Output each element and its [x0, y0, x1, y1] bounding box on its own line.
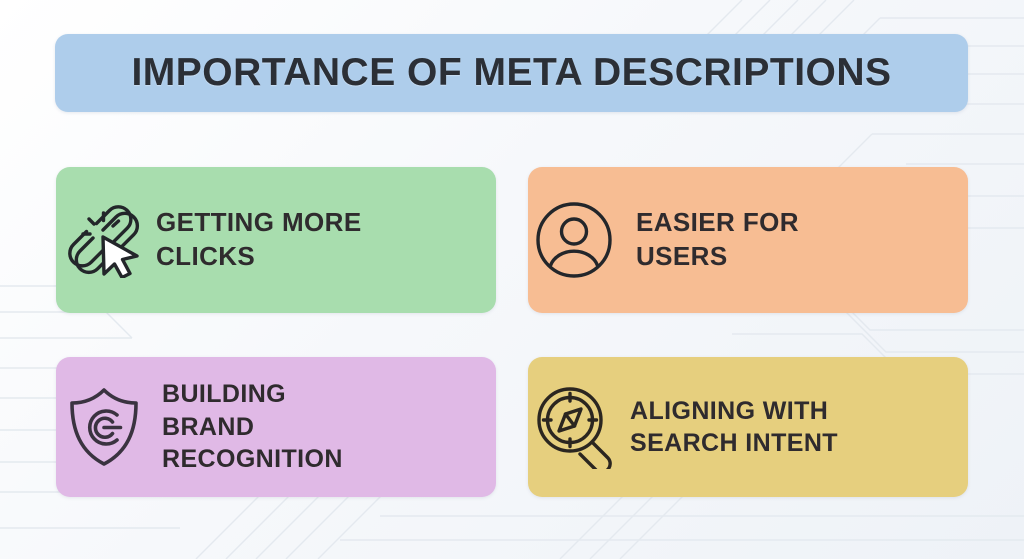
card-easier-for-users[interactable]: EASIER FOR USERS [528, 167, 968, 313]
compass-magnifier-icon [528, 385, 624, 469]
infographic-canvas: IMPORTANCE OF META DESCRIPTIONS GETTING … [0, 0, 1024, 559]
card-label-getting-more-clicks: GETTING MORE CLICKS [148, 206, 362, 273]
card-aligning-with-search-intent[interactable]: ALIGNING WITH SEARCH INTENT [528, 357, 968, 497]
user-circle-icon [528, 200, 620, 280]
card-building-brand-recognition[interactable]: BUILDING BRAND RECOGNITION [56, 357, 496, 497]
card-label-aligning-with-search-intent: ALIGNING WITH SEARCH INTENT [624, 395, 838, 460]
page-title-banner: IMPORTANCE OF META DESCRIPTIONS [55, 34, 968, 112]
card-label-easier-for-users: EASIER FOR USERS [620, 206, 799, 273]
shield-copyright-icon [56, 386, 152, 468]
broken-link-cursor-icon [56, 202, 148, 278]
card-label-building-brand-recognition: BUILDING BRAND RECOGNITION [152, 378, 343, 476]
page-title: IMPORTANCE OF META DESCRIPTIONS [131, 51, 891, 95]
card-getting-more-clicks[interactable]: GETTING MORE CLICKS [56, 167, 496, 313]
